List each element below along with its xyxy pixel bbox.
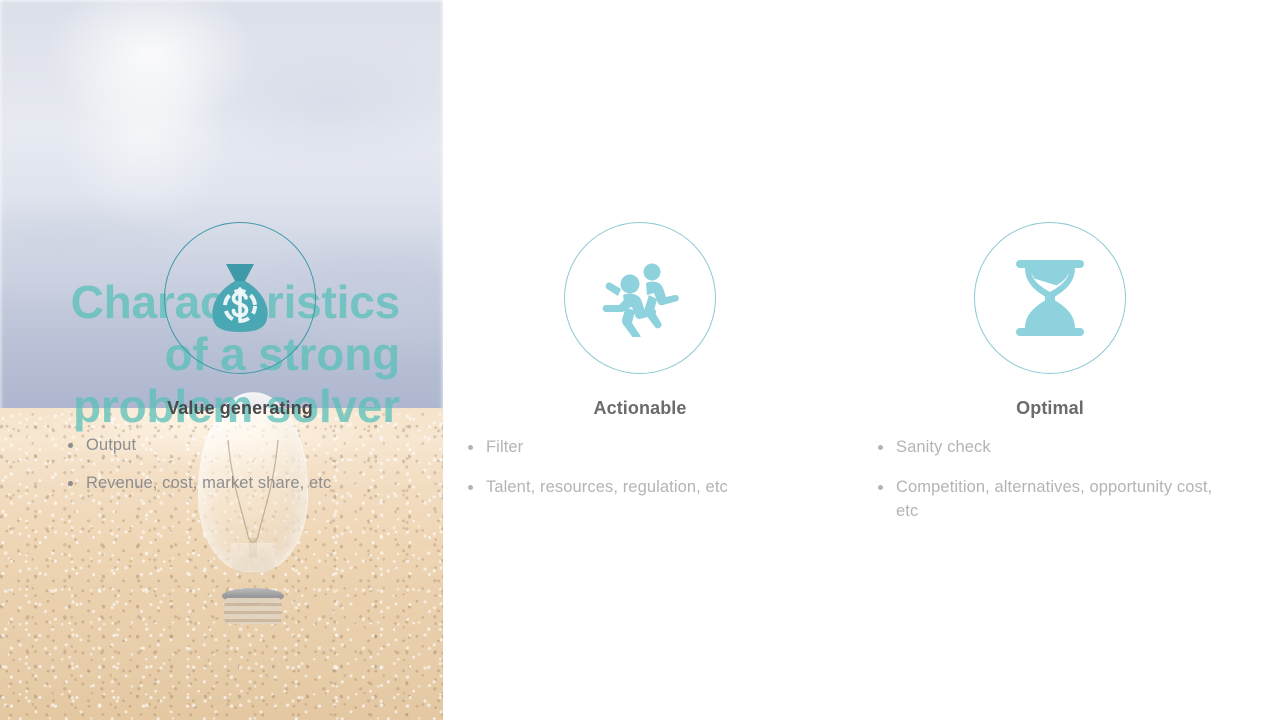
list-item: Competition, alternatives, opportunity c… — [870, 475, 1230, 523]
column-actionable: Actionable Filter Talent, resources, reg… — [460, 222, 820, 515]
slide-root: Characteristics of a strong problem solv… — [0, 0, 1280, 720]
column-heading: Value generating — [60, 398, 420, 419]
icon-circle-optimal — [974, 222, 1126, 374]
running-people-icon — [599, 259, 681, 337]
column-heading: Optimal — [870, 398, 1230, 419]
list-item: Filter — [460, 435, 820, 459]
column-heading: Actionable — [460, 398, 820, 419]
hourglass-icon — [1011, 257, 1089, 339]
icon-circle-actionable — [564, 222, 716, 374]
list-item: Sanity check — [870, 435, 1230, 459]
column-value-generating: Value generating Output Revenue, cost, m… — [60, 222, 420, 509]
column-bullet-list: Filter Talent, resources, regulation, et… — [460, 435, 820, 499]
feature-columns: Value generating Output Revenue, cost, m… — [0, 0, 1280, 720]
column-optimal: Optimal Sanity check Competition, altern… — [870, 222, 1230, 539]
list-item: Talent, resources, regulation, etc — [460, 475, 820, 499]
column-bullet-list: Sanity check Competition, alternatives, … — [870, 435, 1230, 523]
icon-circle-value-generating — [164, 222, 316, 374]
list-item: Revenue, cost, market share, etc — [60, 471, 420, 495]
money-bag-icon — [201, 259, 279, 337]
column-bullet-list: Output Revenue, cost, market share, etc — [60, 433, 420, 495]
list-item: Output — [60, 433, 420, 457]
